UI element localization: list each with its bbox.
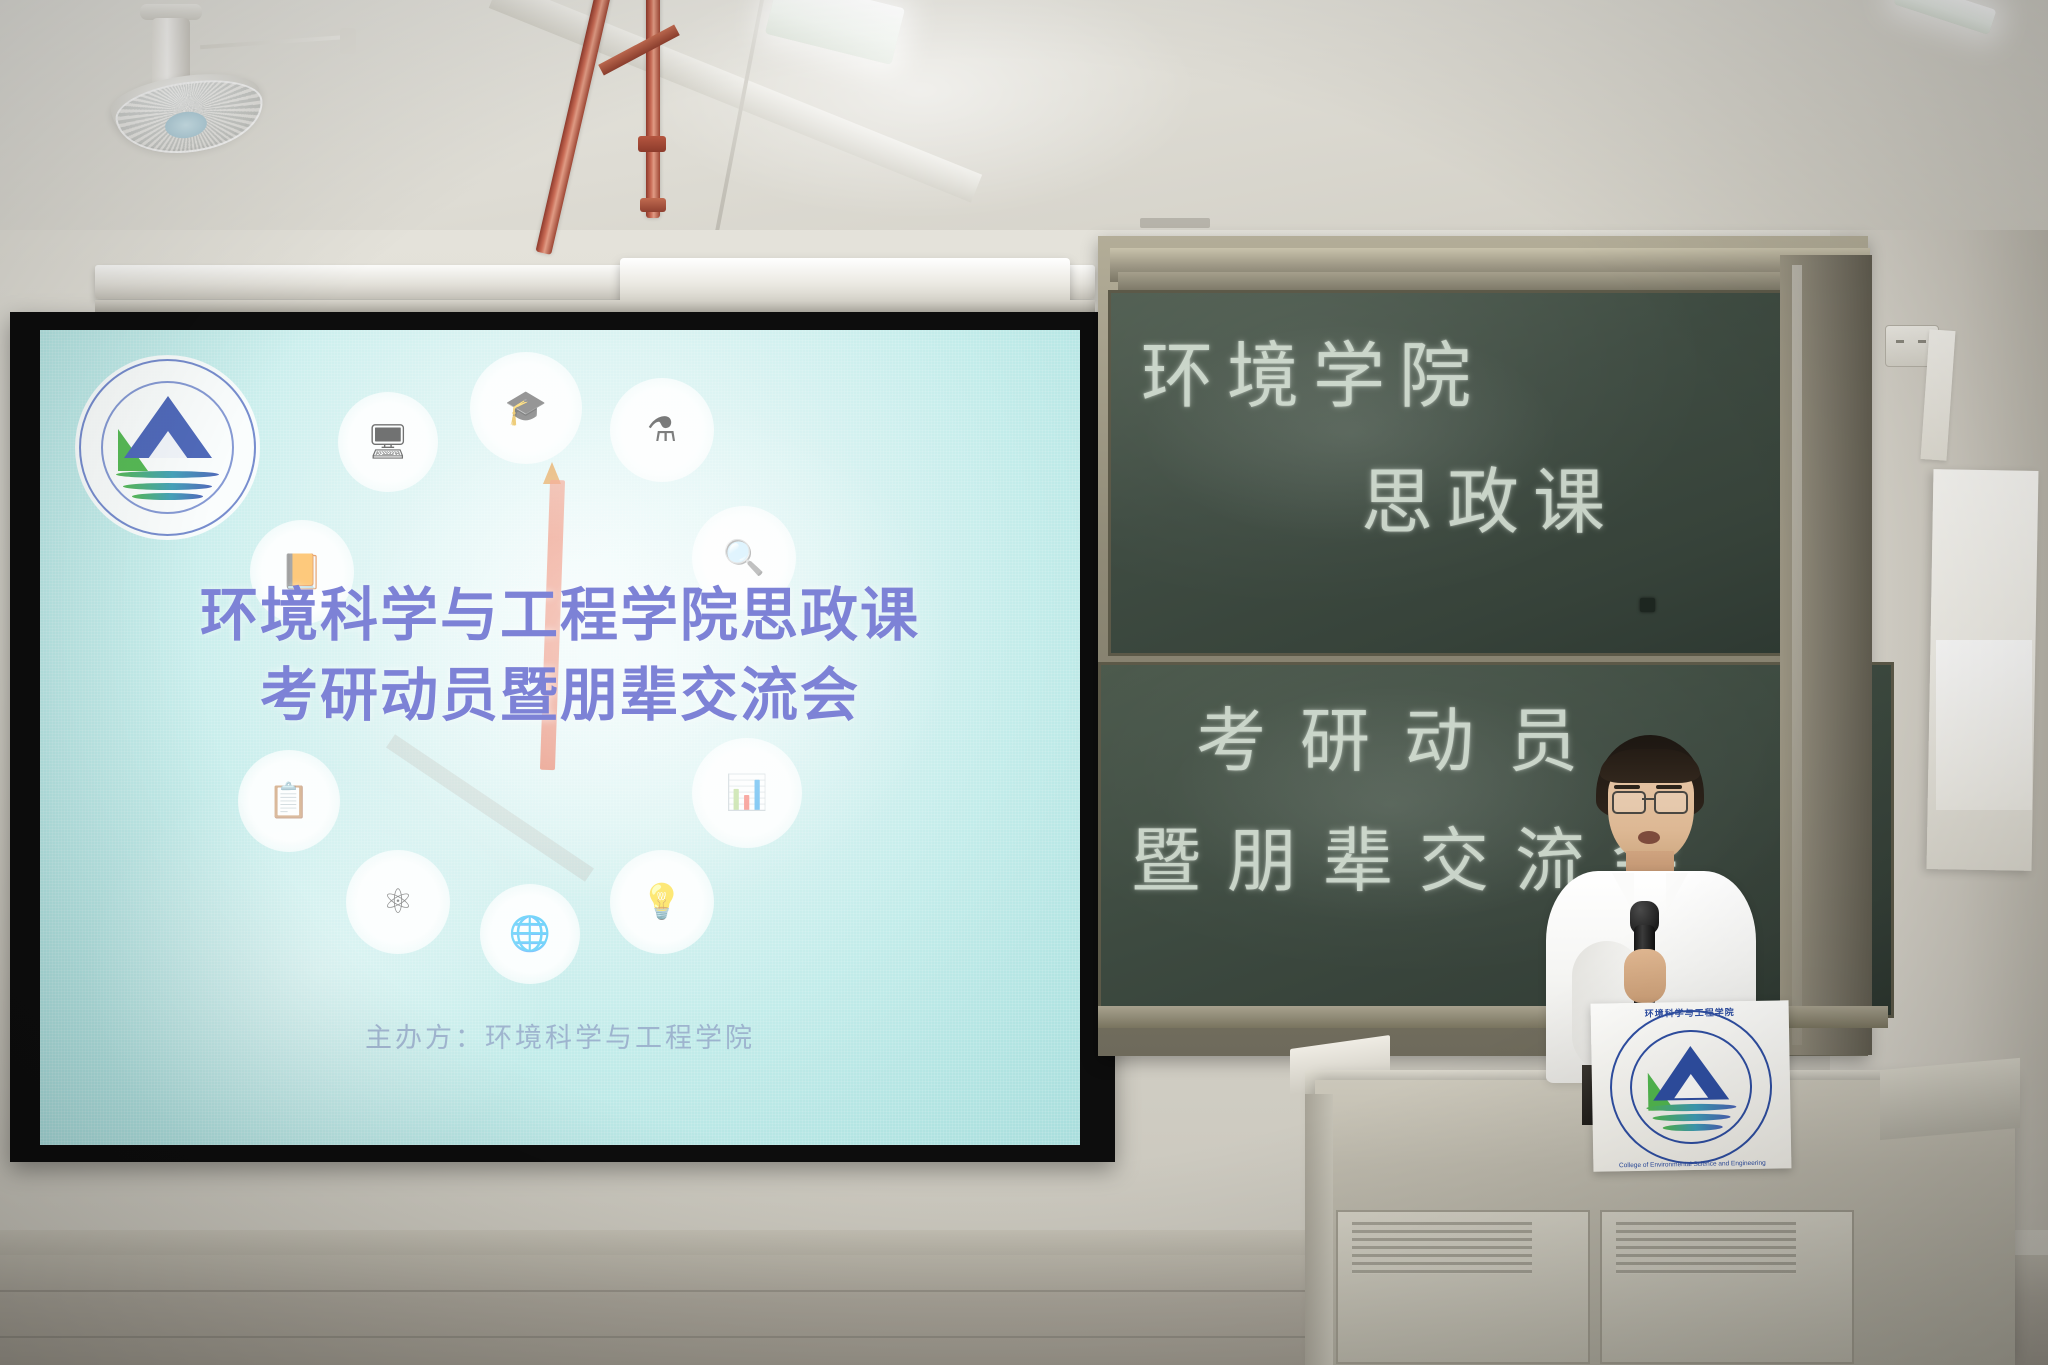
chart-icon: 📊 bbox=[692, 738, 802, 848]
flask-icon: ⚗ bbox=[610, 378, 714, 482]
monitor-icon: 🖥 bbox=[338, 392, 438, 492]
slide-logo: 环境科学与工程学院 bbox=[75, 355, 260, 540]
blackboard-text-line-2: 思政课 bbox=[1361, 443, 1619, 548]
speaker-fringe bbox=[1600, 749, 1700, 783]
podium-vent-right bbox=[1616, 1222, 1796, 1274]
logo-triangle-cutout bbox=[148, 431, 188, 459]
podium-sign: 环境科学与工程学院 College of Environmental Scien… bbox=[1591, 1000, 1792, 1171]
fan-arm-tip bbox=[340, 28, 356, 54]
slide-title-line-1: 环境科学与工程学院思政课 bbox=[40, 568, 1080, 652]
shirt-collar-right bbox=[1666, 873, 1688, 913]
speaker-mouth bbox=[1638, 831, 1660, 844]
floor-seam bbox=[0, 1336, 1330, 1338]
podium-left-post bbox=[1305, 1094, 1333, 1365]
speaker-brow-right bbox=[1656, 785, 1682, 789]
projection-screen: 环境科学与工程学院 🖥 🎓 ⚗ 📙 🔍 📋 📊 ⚛ 🌐 💡 环境科学与工程学院思… bbox=[40, 330, 1080, 1145]
blackboard-upper-panel: 环境学院 思政课 bbox=[1108, 290, 1786, 656]
logo-wave bbox=[116, 471, 219, 478]
sign-logo-wave bbox=[1663, 1123, 1722, 1131]
graduation-cap-icon: 🎓 bbox=[470, 352, 582, 464]
sign-english-text: College of Environmental Science and Eng… bbox=[1615, 1160, 1769, 1170]
blackboard-top-rail-2 bbox=[1118, 272, 1870, 290]
logo-wave bbox=[123, 483, 212, 490]
rail-highlight bbox=[1792, 265, 1802, 1045]
screen-rail bbox=[95, 300, 1095, 312]
sign-logo-mark bbox=[1639, 1039, 1743, 1135]
glasses-bridge bbox=[1642, 798, 1654, 800]
slide-title-line-2: 考研动员暨朋辈交流会 bbox=[40, 648, 1080, 732]
wall-notice-sheet bbox=[1936, 640, 2032, 810]
clipboard-icon: 📋 bbox=[238, 750, 340, 852]
sign-chinese-text: 环境科学与工程学院 bbox=[1607, 1005, 1773, 1021]
speaker-hand bbox=[1624, 949, 1666, 1003]
college-logo: 环境科学与工程学院 College of Environmental Scien… bbox=[1607, 1007, 1776, 1168]
lamp-icon: 💡 bbox=[610, 850, 714, 954]
floor-seam bbox=[0, 1290, 1330, 1292]
speaker-brow-left bbox=[1614, 785, 1640, 789]
blackboard-magnet bbox=[1640, 598, 1655, 612]
glasses-lens-right bbox=[1654, 791, 1688, 814]
sign-logo-wave bbox=[1653, 1114, 1731, 1122]
logo-mountain-water-mark bbox=[109, 389, 226, 506]
podium-vent-left bbox=[1352, 1222, 1532, 1274]
sign-logo-triangle-cutout bbox=[1674, 1074, 1708, 1099]
wall-bracket bbox=[1140, 218, 1210, 228]
logo-wave bbox=[132, 493, 202, 500]
classroom-photo-scene: 环境科学与工程学院 🖥 🎓 ⚗ 📙 🔍 📋 📊 ⚛ 🌐 💡 环境科学与工程学院思… bbox=[0, 0, 2048, 1365]
pipe-clamp bbox=[638, 136, 666, 152]
slide-subtitle: 主办方：环境科学与工程学院 bbox=[40, 1016, 1080, 1055]
pipe-cap bbox=[640, 198, 666, 212]
globe-icon: 🌐 bbox=[480, 884, 580, 984]
molecule-icon: ⚛ bbox=[346, 850, 450, 954]
glasses-lens-left bbox=[1612, 791, 1646, 814]
blackboard-text-line-1: 环境学院 bbox=[1141, 317, 1485, 422]
podium-side-panel bbox=[1880, 1058, 2020, 1140]
